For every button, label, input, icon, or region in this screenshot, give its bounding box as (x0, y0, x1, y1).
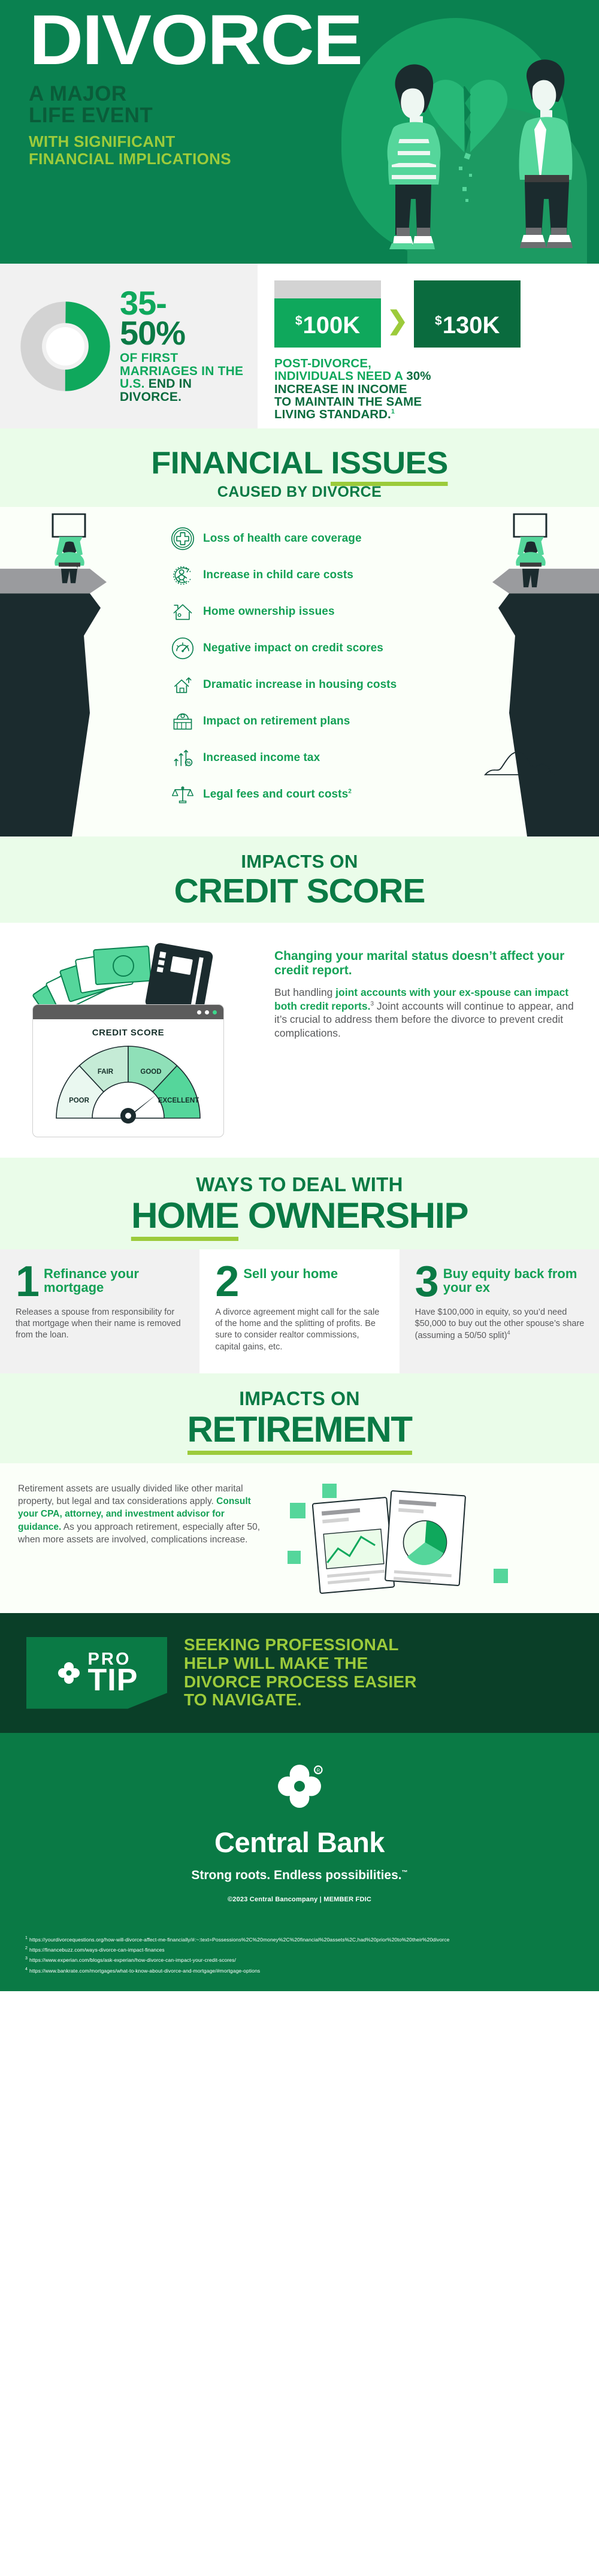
source-item: 2https://financebuzz.com/ways-divorce-ca… (25, 1944, 599, 1955)
source-number: 4 (25, 1967, 28, 1971)
option-label: Buy equity back from your ex (443, 1265, 586, 1295)
chevron-right-icon: ❯ (387, 310, 408, 348)
list-item-label: Negative impact on credit scores (203, 642, 383, 655)
pro-tip-section: PRO TIP SEEKING PROFESSIONAL HELP WILL M… (0, 1613, 599, 1733)
list-item: Loss of health care coverage (171, 520, 428, 557)
home-ownership-option-1: 1 Refinance your mortgage Releases a spo… (0, 1249, 199, 1373)
list-item: Dramatic increase in housing costs (171, 666, 428, 703)
source-url: https://financebuzz.com/ways-divorce-can… (29, 1947, 165, 1953)
amount-after-value: $130K (435, 312, 500, 339)
source-item: 4https://www.bankrate.com/mortgages/what… (25, 1965, 599, 1976)
caption-line-3: INCREASE IN INCOME (274, 383, 585, 395)
currency-symbol-2: $ (435, 314, 442, 328)
home-ownership-option-3: 3 Buy equity back from your ex Have $100… (400, 1249, 599, 1373)
window-dot-1 (197, 1010, 201, 1014)
divorce-rate-numbers: 35- 50% (120, 288, 249, 348)
list-item-label: Home ownership issues (203, 605, 335, 618)
pro-tip-line-4: TO NAVIGATE. (184, 1691, 417, 1710)
option-description: Releases a spouse from responsibility fo… (16, 1307, 186, 1341)
source-url: https://www.experian.com/blogs/ask-exper… (29, 1957, 236, 1963)
retirement-section: IMPACTS ON RETIREMENT Retirement assets … (0, 1373, 599, 1613)
stats-section: 35- 50% OF FIRST MARRIAGES IN THE U.S. E… (0, 264, 599, 428)
amount-before-grey-cap (274, 280, 381, 298)
home-ownership-title: HOME OWNERSHIP (0, 1195, 599, 1236)
retirement-copy: Retirement assets are usually divided li… (18, 1479, 270, 1593)
credit-score-title: CREDIT SCORE (0, 871, 599, 911)
option-label: Sell your home (243, 1265, 338, 1281)
financial-issues-section: FINANCIAL ISSUES CAUSED BY DIVORCE (0, 428, 599, 836)
financial-issues-subtitle: CAUSED BY DIVORCE (0, 484, 599, 501)
option-heading: 2 Sell your home (215, 1265, 386, 1298)
option-number: 2 (215, 1265, 238, 1298)
list-item: Negative impact on credit scores (171, 630, 428, 666)
list-item: Legal fees and court costs2 (171, 776, 428, 813)
footer-section: R Central Bank Strong roots. Endless pos… (0, 1733, 599, 1914)
credit-score-header: IMPACTS ON CREDIT SCORE (0, 836, 599, 923)
income-increase-caption: POST-DIVORCE, INDIVIDUALS NEED A 30% INC… (274, 357, 585, 421)
retirement-illustration (283, 1479, 581, 1593)
pro-tip-line-1: SEEKING PROFESSIONAL (184, 1636, 417, 1654)
credit-score-widget-title: CREDIT SCORE (33, 1028, 223, 1038)
source-item: 3https://www.experian.com/blogs/ask-expe… (25, 1955, 599, 1965)
pro-tip-message: SEEKING PROFESSIONAL HELP WILL MAKE THE … (184, 1636, 417, 1710)
source-number: 3 (25, 1956, 28, 1961)
source-number: 1 (25, 1936, 28, 1940)
home-ownership-section: WAYS TO DEAL WITH HOME OWNERSHIP 1 Refin… (0, 1158, 599, 1373)
pro-tip-tip-text: TIP (88, 1667, 138, 1694)
scales-of-justice-icon (171, 783, 195, 807)
source-item: 1https://yourdivorcequestions.org/how-wi… (25, 1934, 599, 1944)
credit-score-meter-icon (171, 636, 195, 660)
pro-tip-line-2: HELP WILL MAKE THE (184, 1654, 417, 1673)
pro-tip-badge: PRO TIP (26, 1637, 167, 1709)
clover-logo-icon: R (274, 1760, 325, 1812)
credit-score-eyebrow: IMPACTS ON (0, 851, 599, 872)
option-number: 3 (415, 1265, 438, 1298)
gauge-label-fair: FAIR (98, 1068, 114, 1076)
financial-issues-body: Loss of health care coverage Increase in… (0, 507, 599, 836)
retirement-body: Retirement assets are usually divided li… (0, 1463, 599, 1613)
footnote-marker-1: 1 (391, 408, 395, 415)
financial-documents-icon (283, 1479, 522, 1599)
gauge-label-excellent: EXCELLENT (158, 1097, 199, 1104)
hero-subtitle-line-3: WITH SIGNIFICANT (29, 133, 599, 150)
home-ownership-options: 1 Refinance your mortgage Releases a spo… (0, 1249, 599, 1373)
option-heading: 3 Buy equity back from your ex (415, 1265, 586, 1298)
money-comparison: $100K ❯ $130K (274, 280, 585, 348)
divorce-rate-donut-chart (20, 301, 110, 391)
health-cross-icon (171, 527, 195, 551)
footnote-marker-4: 4 (507, 1330, 510, 1336)
bank-name: Central Bank (0, 1826, 599, 1859)
option-number: 1 (16, 1265, 38, 1298)
credit-score-browser-window: CREDIT SCORE POOR FAIR GO (32, 1004, 224, 1137)
hero-subtitle-line-1: A MAJOR (29, 83, 599, 105)
currency-symbol: $ (295, 314, 302, 328)
page-title: DIVORCE (0, 11, 599, 70)
hero-subtitle-block: A MAJOR LIFE EVENT (0, 83, 599, 126)
window-dot-2 (205, 1010, 209, 1014)
footnote-marker-2: 2 (348, 788, 352, 795)
retirement-title: RETIREMENT (0, 1409, 599, 1450)
financial-issues-header: FINANCIAL ISSUES CAUSED BY DIVORCE (0, 428, 599, 507)
retirement-header: IMPACTS ON RETIREMENT (0, 1373, 599, 1463)
housing-cost-up-icon (171, 673, 195, 697)
credit-score-paragraph: But handling joint accounts with your ex… (274, 986, 579, 1040)
hero-subtitle-block-2: WITH SIGNIFICANT FINANCIAL IMPLICATIONS (0, 133, 599, 167)
child-care-icon (171, 563, 195, 587)
donut-hole (46, 327, 84, 366)
amount-before-box: $100K (274, 280, 381, 348)
list-item-label: Dramatic increase in housing costs (203, 678, 397, 691)
list-item-label: Impact on retirement plans (203, 715, 350, 728)
list-item: Increase in child care costs (171, 557, 428, 593)
source-url: https://yourdivorcequestions.org/how-wil… (29, 1936, 449, 1942)
pro-tip-line-3: DIVORCE PROCESS EASIER (184, 1673, 417, 1692)
infographic-page: DIVORCE A MAJOR LIFE EVENT WITH SIGNIFIC… (0, 0, 599, 1991)
left-cliff-illustration (0, 507, 126, 836)
pro-tip-wordmark: PRO TIP (88, 1652, 138, 1694)
financial-issues-list: Loss of health care coverage Increase in… (171, 520, 428, 813)
option-heading: 1 Refinance your mortgage (16, 1265, 186, 1298)
option-description: Have $100,000 in equity, so you’d need $… (415, 1307, 586, 1342)
amount-after-box: $130K (414, 280, 521, 348)
financial-issues-title: FINANCIAL ISSUES (0, 445, 599, 481)
browser-content: CREDIT SCORE POOR FAIR GO (33, 1019, 223, 1137)
browser-titlebar (33, 1005, 223, 1019)
caption-line-5: LIVING STANDARD.1 (274, 408, 585, 421)
right-cliff-illustration (473, 507, 599, 836)
divorce-rate-text: 35- 50% OF FIRST MARRIAGES IN THE U.S. E… (120, 288, 249, 403)
option-label: Refinance your mortgage (44, 1265, 186, 1295)
trademark-mark: ™ (402, 1870, 408, 1876)
list-item-label: Increased income tax (203, 751, 320, 765)
income-increase-stat: $100K ❯ $130K POST-DIVORCE, INDIVIDUALS … (258, 264, 599, 428)
list-item-label: Legal fees and court costs2 (203, 788, 352, 801)
home-ownership-header: WAYS TO DEAL WITH HOME OWNERSHIP (0, 1158, 599, 1249)
hero-subtitle-line-4: FINANCIAL IMPLICATIONS (29, 150, 599, 167)
source-url: https://www.bankrate.com/mortgages/what-… (29, 1968, 260, 1974)
pro-tip-badge-inner: PRO TIP (56, 1652, 138, 1694)
stat-number-bottom: 50% (120, 318, 249, 348)
gauge-label-poor: POOR (69, 1097, 90, 1104)
caption-line-1: POST-DIVORCE, (274, 357, 585, 370)
gauge-label-good: GOOD (140, 1068, 161, 1076)
list-item: Home ownership issues (171, 593, 428, 630)
divorce-rate-stat: 35- 50% OF FIRST MARRIAGES IN THE U.S. E… (0, 264, 258, 428)
hero-section: DIVORCE A MAJOR LIFE EVENT WITH SIGNIFIC… (0, 0, 599, 264)
clover-icon (56, 1660, 82, 1686)
option-description: A divorce agreement might call for the s… (215, 1307, 386, 1353)
amount-before-value: $100K (295, 312, 360, 339)
credit-score-section: IMPACTS ON CREDIT SCORE (0, 836, 599, 1158)
list-item: Impact on retirement plans (171, 703, 428, 739)
window-dot-3 (213, 1010, 217, 1014)
bank-tagline: Strong roots. Endless possibilities.™ (0, 1868, 599, 1883)
credit-score-lead: Changing your marital status doesn’t aff… (274, 949, 579, 978)
home-ownership-option-2: 2 Sell your home A divorce agreement mig… (199, 1249, 399, 1373)
divorce-rate-caption: OF FIRST MARRIAGES IN THE U.S. END IN DI… (120, 352, 249, 404)
credit-score-copy: Changing your marital status doesn’t aff… (274, 934, 579, 1137)
svg-text:R: R (316, 1768, 320, 1773)
retirement-plan-icon (171, 709, 195, 733)
caption-line-2: INDIVIDUALS NEED A 30% (274, 370, 585, 382)
hero-subtitle-line-2: LIFE EVENT (29, 105, 599, 126)
copyright-line: ©2023 Central Bancompany | MEMBER FDIC (0, 1896, 599, 1903)
income-tax-up-icon: % (171, 746, 195, 770)
list-item: % Increased income tax (171, 739, 428, 776)
retirement-eyebrow: IMPACTS ON (0, 1388, 599, 1410)
list-item-label: Loss of health care coverage (203, 532, 362, 545)
credit-score-body: CREDIT SCORE POOR FAIR GO (0, 923, 599, 1158)
credit-score-illustration: CREDIT SCORE POOR FAIR GO (18, 934, 264, 1137)
source-number: 2 (25, 1946, 28, 1950)
house-icon (171, 600, 195, 624)
sources-list: 1https://yourdivorcequestions.org/how-wi… (0, 1914, 599, 1992)
list-item-label: Increase in child care costs (203, 569, 353, 582)
caption-line-4: TO MAINTAIN THE SAME (274, 395, 585, 408)
credit-score-gauge: POOR FAIR GOOD EXCELLENT (50, 1043, 206, 1124)
svg-text:%: % (187, 760, 191, 765)
home-ownership-eyebrow: WAYS TO DEAL WITH (0, 1173, 599, 1196)
